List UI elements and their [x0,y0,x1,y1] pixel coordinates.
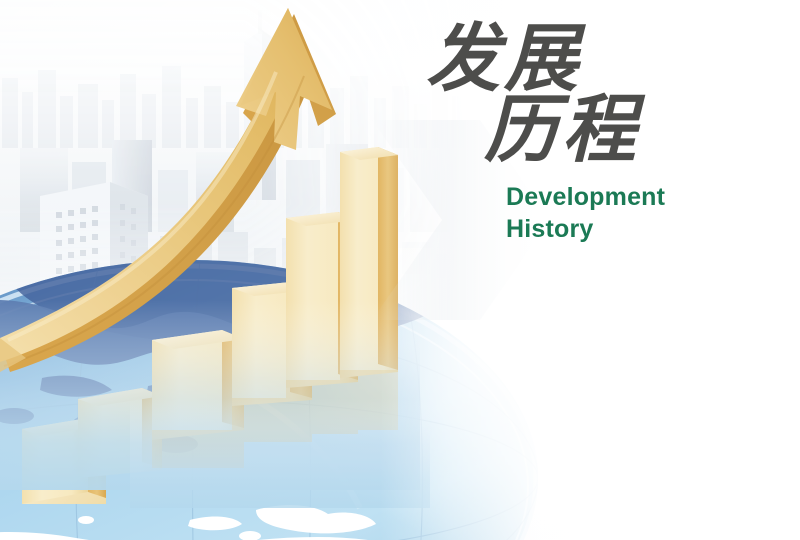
title-en-line1: Development [506,181,764,214]
title-block: 发展 历程 Development History [424,22,764,246]
title-en-line2: History [506,213,764,246]
title-en-block: Development History [506,181,764,246]
title-cn-line2: 历程 [484,93,764,168]
banner-graphic: 发展 历程 Development History [0,0,800,540]
title-cn-line1: 发展 [426,22,764,97]
